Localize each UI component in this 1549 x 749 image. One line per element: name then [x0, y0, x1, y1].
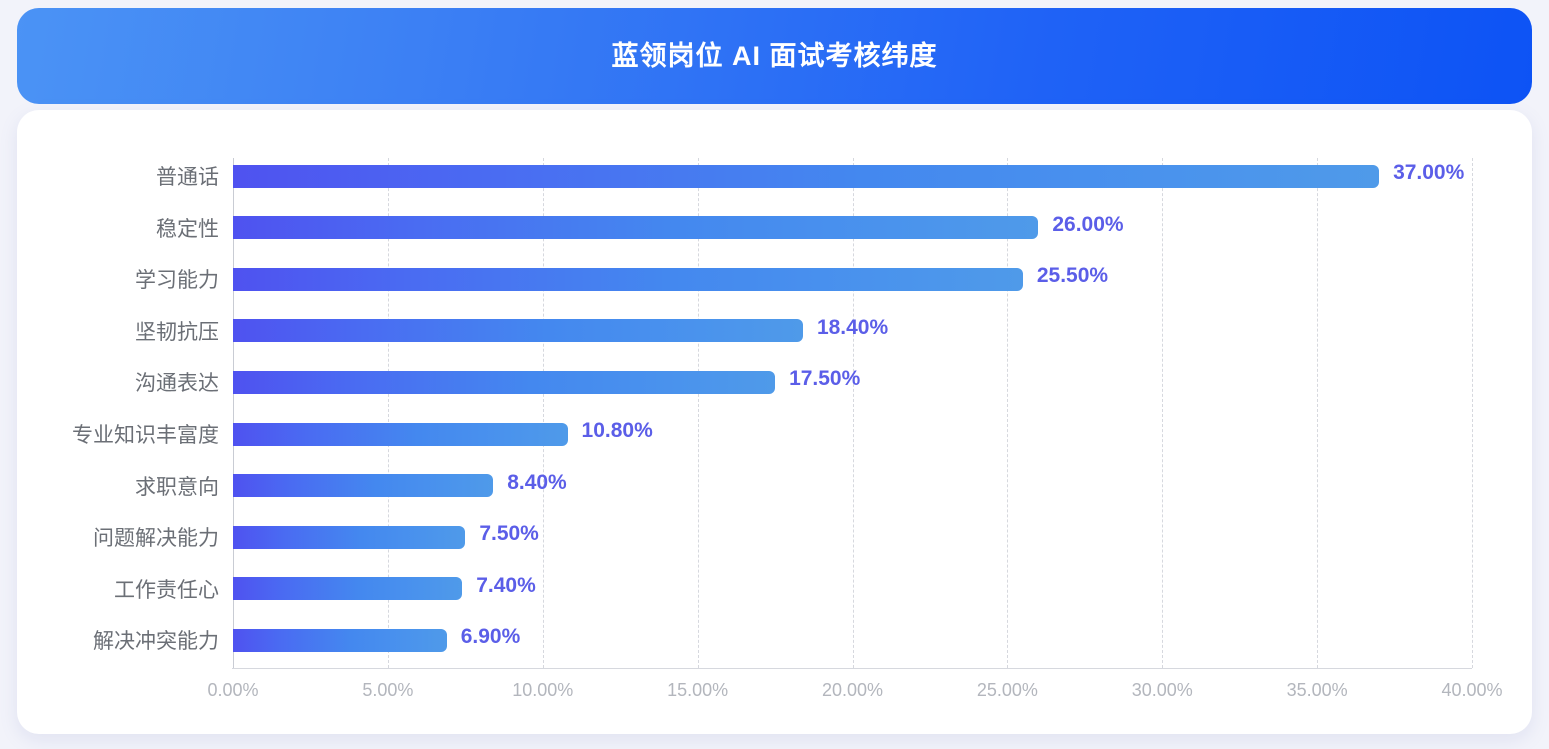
x-axis-line	[232, 668, 1472, 669]
category-label: 坚韧抗压	[135, 316, 219, 346]
category-label: 沟通表达	[135, 367, 219, 397]
category-label: 普通话	[156, 161, 219, 191]
category-label: 工作责任心	[114, 574, 219, 604]
bar-value-label: 25.50%	[1037, 264, 1108, 288]
x-tick-label: 35.00%	[1287, 680, 1348, 701]
bar[interactable]	[233, 268, 1023, 291]
bar-value-label: 37.00%	[1393, 161, 1464, 185]
x-tick-label: 5.00%	[362, 680, 413, 701]
bar-value-label: 26.00%	[1052, 213, 1123, 237]
bar-value-label: 10.80%	[582, 419, 653, 443]
chart-card: 蓝领岗位 AI 面试考核纬度 普通话稳定性学习能力坚韧抗压沟通表达专业知识丰富度…	[17, 8, 1532, 734]
category-label: 学习能力	[135, 264, 219, 294]
category-label: 稳定性	[156, 213, 219, 243]
category-label: 解决冲突能力	[93, 625, 219, 655]
category-label: 求职意向	[135, 471, 219, 501]
bar-value-label: 17.50%	[789, 367, 860, 391]
chart-body: 普通话稳定性学习能力坚韧抗压沟通表达专业知识丰富度求职意向问题解决能力工作责任心…	[17, 110, 1532, 734]
bar[interactable]	[233, 526, 465, 549]
category-label: 问题解决能力	[93, 522, 219, 552]
x-tick-label: 10.00%	[512, 680, 573, 701]
category-label: 专业知识丰富度	[72, 419, 219, 449]
gridline-40.00%	[1472, 158, 1473, 668]
x-tick-label: 15.00%	[667, 680, 728, 701]
bar-value-label: 8.40%	[507, 471, 567, 495]
x-tick-label: 40.00%	[1441, 680, 1502, 701]
x-tick-label: 25.00%	[977, 680, 1038, 701]
bar-chart-plot: 普通话稳定性学习能力坚韧抗压沟通表达专业知识丰富度求职意向问题解决能力工作责任心…	[17, 110, 1532, 734]
bar[interactable]	[233, 577, 462, 600]
bar-value-label: 6.90%	[461, 625, 521, 649]
x-tick-label: 20.00%	[822, 680, 883, 701]
bar-value-label: 18.40%	[817, 316, 888, 340]
gridline-35.00%	[1317, 158, 1318, 668]
x-tick-label: 0.00%	[207, 680, 258, 701]
bar[interactable]	[233, 629, 447, 652]
x-tick-label: 30.00%	[1132, 680, 1193, 701]
bar[interactable]	[233, 319, 803, 342]
bar-value-label: 7.40%	[476, 574, 536, 598]
page-title: 蓝领岗位 AI 面试考核纬度	[611, 43, 937, 70]
bar[interactable]	[233, 216, 1038, 239]
bar[interactable]	[233, 474, 493, 497]
bar[interactable]	[233, 423, 568, 446]
bar[interactable]	[233, 371, 775, 394]
bar-value-label: 7.50%	[479, 522, 539, 546]
gridline-30.00%	[1162, 158, 1163, 668]
bar[interactable]	[233, 165, 1379, 188]
chart-header: 蓝领岗位 AI 面试考核纬度	[17, 8, 1532, 104]
